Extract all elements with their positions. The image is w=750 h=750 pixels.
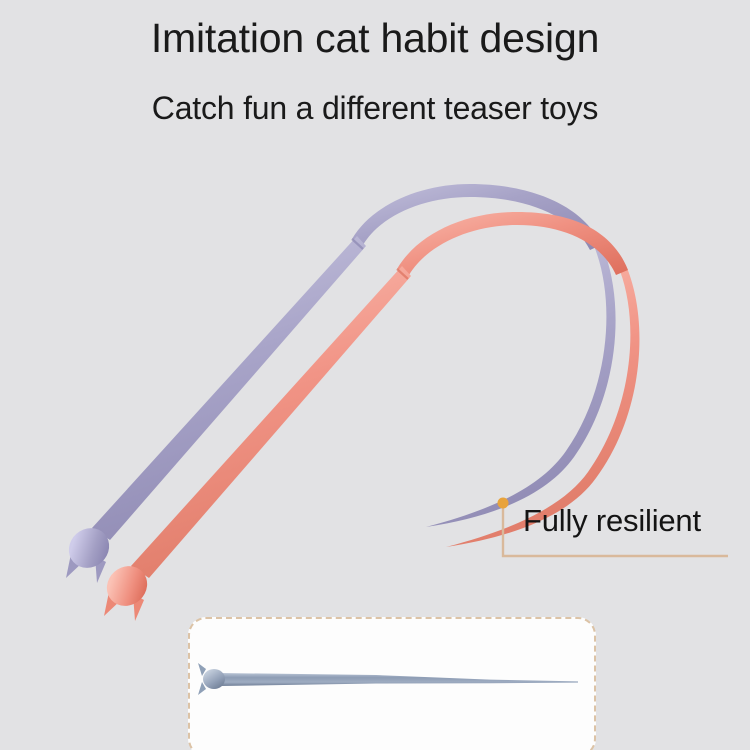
inset-product-card	[188, 617, 596, 750]
inset-wand-illustration	[190, 619, 596, 750]
inset-bulb	[203, 669, 225, 689]
callout-label: Fully resilient	[523, 503, 701, 539]
pink-wand	[99, 212, 640, 621]
inset-wand	[198, 663, 578, 695]
pink-wand-handle	[131, 266, 411, 578]
callout-dot	[498, 498, 509, 509]
purple-wand-handle	[92, 236, 366, 540]
product-banner: Imitation cat habit design Catch fun a d…	[0, 0, 750, 750]
inset-wand-rod	[220, 673, 578, 686]
pink-wand-arc	[397, 212, 628, 275]
